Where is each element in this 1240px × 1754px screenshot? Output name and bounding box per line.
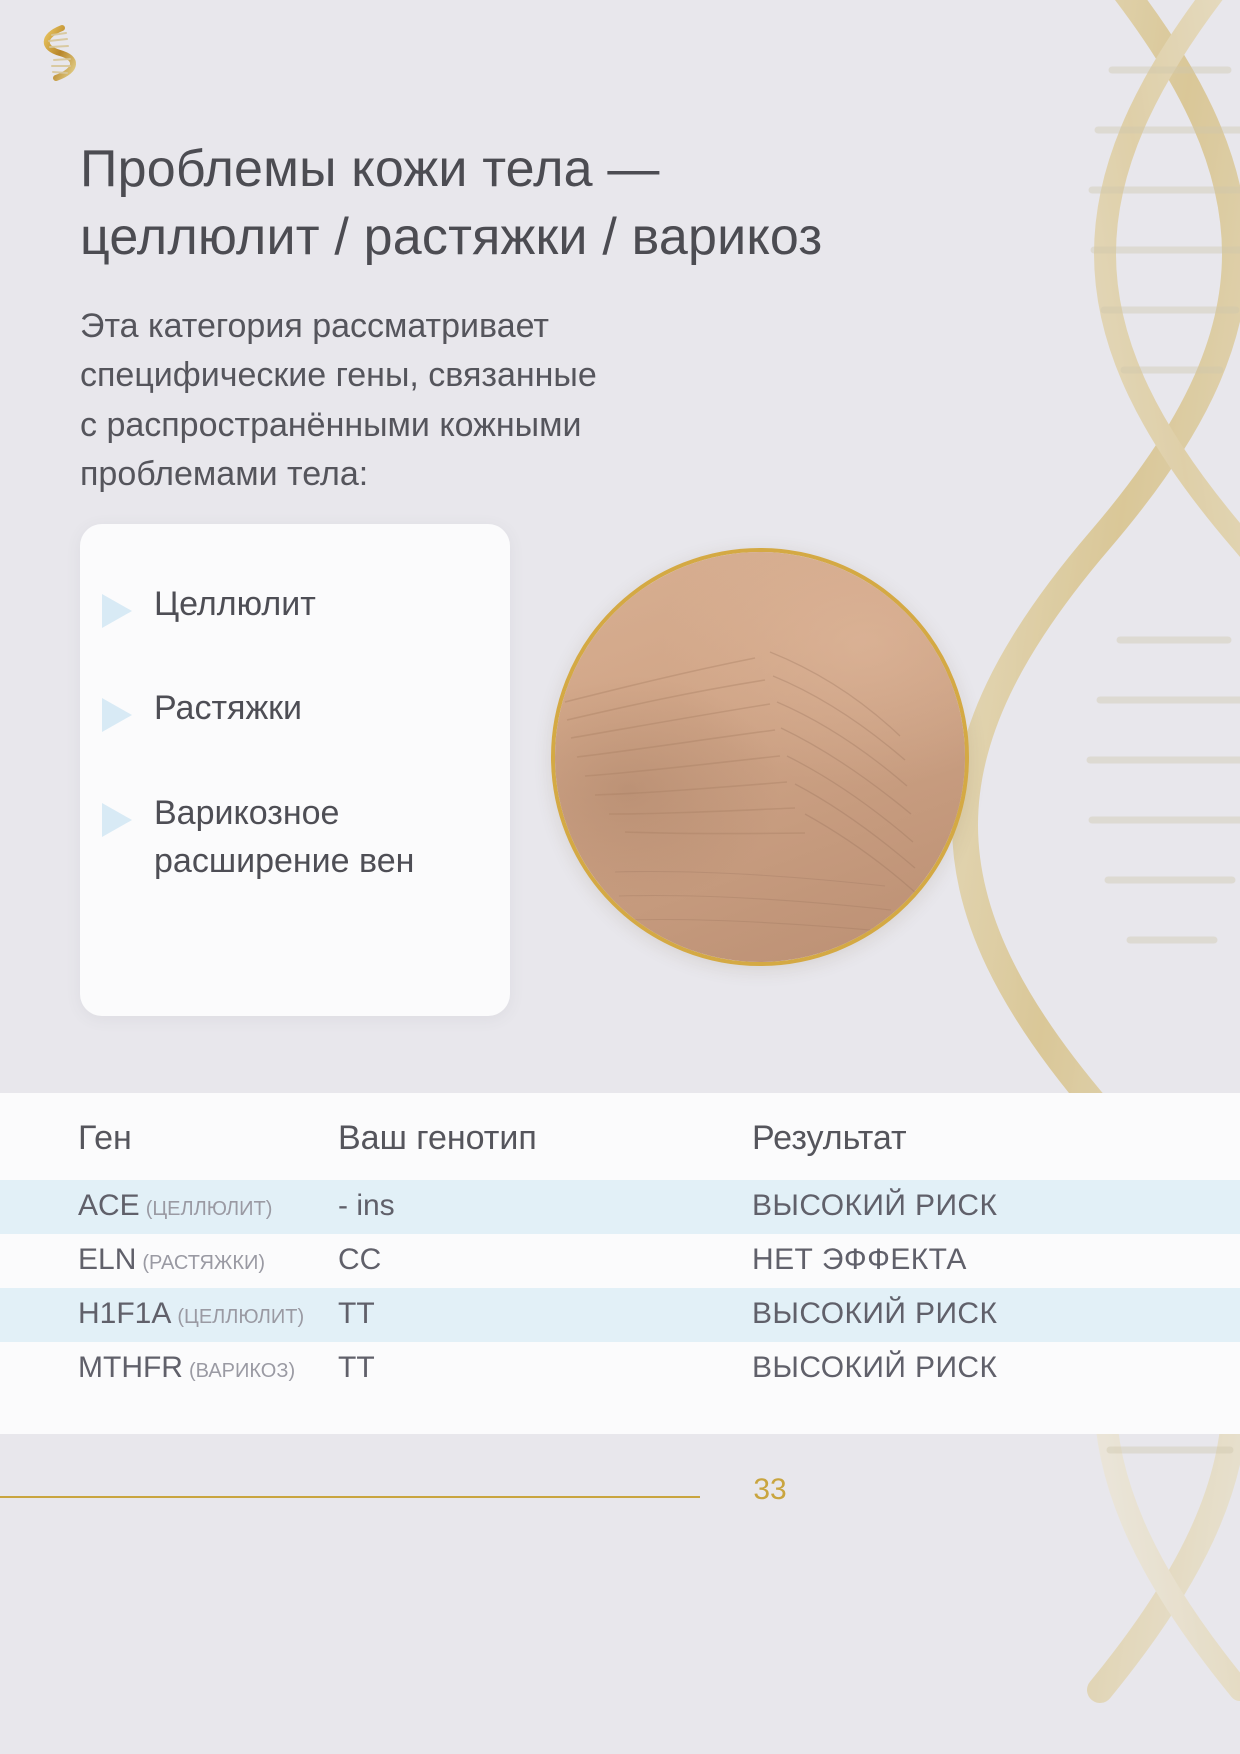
gene-note: (ВАРИКОЗ)	[189, 1360, 295, 1382]
cell-gene: ELN(РАСТЯЖКИ)	[0, 1234, 330, 1288]
table-row: ACE(ЦЕЛЛЮЛИТ) - ins ВЫСОКИЙ РИСК	[0, 1180, 1240, 1234]
gene-name: ELN	[78, 1243, 136, 1276]
intro-line-1: Эта категория рассматривает	[80, 302, 800, 351]
table-row: MTHFR(ВАРИКОЗ) TT ВЫСОКИЙ РИСК	[0, 1342, 1240, 1396]
gene-name: ACE	[78, 1189, 140, 1222]
gene-note: (РАСТЯЖКИ)	[142, 1252, 265, 1274]
intro-line-3: с распространёнными кожными	[80, 401, 800, 450]
gene-note: (ЦЕЛЛЮЛИТ)	[177, 1306, 304, 1328]
skin-photo	[551, 548, 969, 966]
cell-genotype: - ins	[330, 1180, 740, 1234]
gene-name: MTHFR	[78, 1351, 183, 1384]
cell-result: ВЫСОКИЙ РИСК	[740, 1342, 1240, 1396]
skin-photo-image	[555, 552, 965, 962]
cell-result: ВЫСОКИЙ РИСК	[740, 1180, 1240, 1234]
column-header-result: Результат	[740, 1093, 1240, 1180]
table-body: ACE(ЦЕЛЛЮЛИТ) - ins ВЫСОКИЙ РИСК ELN(РАС…	[0, 1180, 1240, 1396]
conditions-list: Целлюлит Растяжки Варикозное расширение …	[102, 580, 492, 885]
cell-gene: H1F1A(ЦЕЛЛЮЛИТ)	[0, 1288, 330, 1342]
gene-note: (ЦЕЛЛЮЛИТ)	[146, 1198, 273, 1220]
column-header-gene: Ген	[0, 1093, 330, 1180]
cell-genotype: TT	[330, 1288, 740, 1342]
cell-genotype: CC	[330, 1234, 740, 1288]
list-item-label: Варикозное расширение вен	[154, 789, 454, 886]
cell-genotype: TT	[330, 1342, 740, 1396]
table-row: H1F1A(ЦЕЛЛЮЛИТ) TT ВЫСОКИЙ РИСК	[0, 1288, 1240, 1342]
skin-texture-lines	[555, 552, 965, 962]
cell-gene: MTHFR(ВАРИКОЗ)	[0, 1342, 330, 1396]
table-row: ELN(РАСТЯЖКИ) CC НЕТ ЭФФЕКТА	[0, 1234, 1240, 1288]
gene-results-table-section: Ген Ваш генотип Результат ACE(ЦЕЛЛЮЛИТ) …	[0, 1093, 1240, 1434]
triangle-right-icon	[102, 698, 132, 732]
list-item-label: Растяжки	[154, 684, 302, 732]
triangle-right-icon	[102, 594, 132, 628]
cell-result: ВЫСОКИЙ РИСК	[740, 1288, 1240, 1342]
intro-line-2: специфические гены, связанные	[80, 351, 800, 400]
triangle-right-icon	[102, 803, 132, 837]
list-item-label: Целлюлит	[154, 580, 316, 628]
footer-divider	[0, 1496, 700, 1498]
page-title-line-1: Проблемы кожи тела —	[80, 140, 660, 198]
table-header-row: Ген Ваш генотип Результат	[0, 1093, 1240, 1180]
cell-result: НЕТ ЭФФЕКТА	[740, 1234, 1240, 1288]
intro-paragraph: Эта категория рассматривает специфически…	[80, 302, 800, 499]
dna-helix-icon	[28, 22, 82, 84]
list-item: Растяжки	[102, 684, 492, 732]
column-header-genotype: Ваш генотип	[330, 1093, 740, 1180]
list-item: Целлюлит	[102, 580, 492, 628]
list-item: Варикозное расширение вен	[102, 789, 492, 886]
table-header: Ген Ваш генотип Результат	[0, 1093, 1240, 1180]
page-number: 33	[730, 1473, 810, 1507]
page-title: Проблемы кожи тела — целлюлит / растяжки…	[80, 135, 960, 272]
cell-gene: ACE(ЦЕЛЛЮЛИТ)	[0, 1180, 330, 1234]
intro-line-4: проблемами тела:	[80, 450, 800, 499]
page-title-line-2: целлюлит / растяжки / варикоз	[80, 203, 960, 272]
gene-results-table: Ген Ваш генотип Результат ACE(ЦЕЛЛЮЛИТ) …	[0, 1093, 1240, 1396]
gene-name: H1F1A	[78, 1297, 171, 1330]
conditions-card: Целлюлит Растяжки Варикозное расширение …	[80, 524, 510, 1016]
